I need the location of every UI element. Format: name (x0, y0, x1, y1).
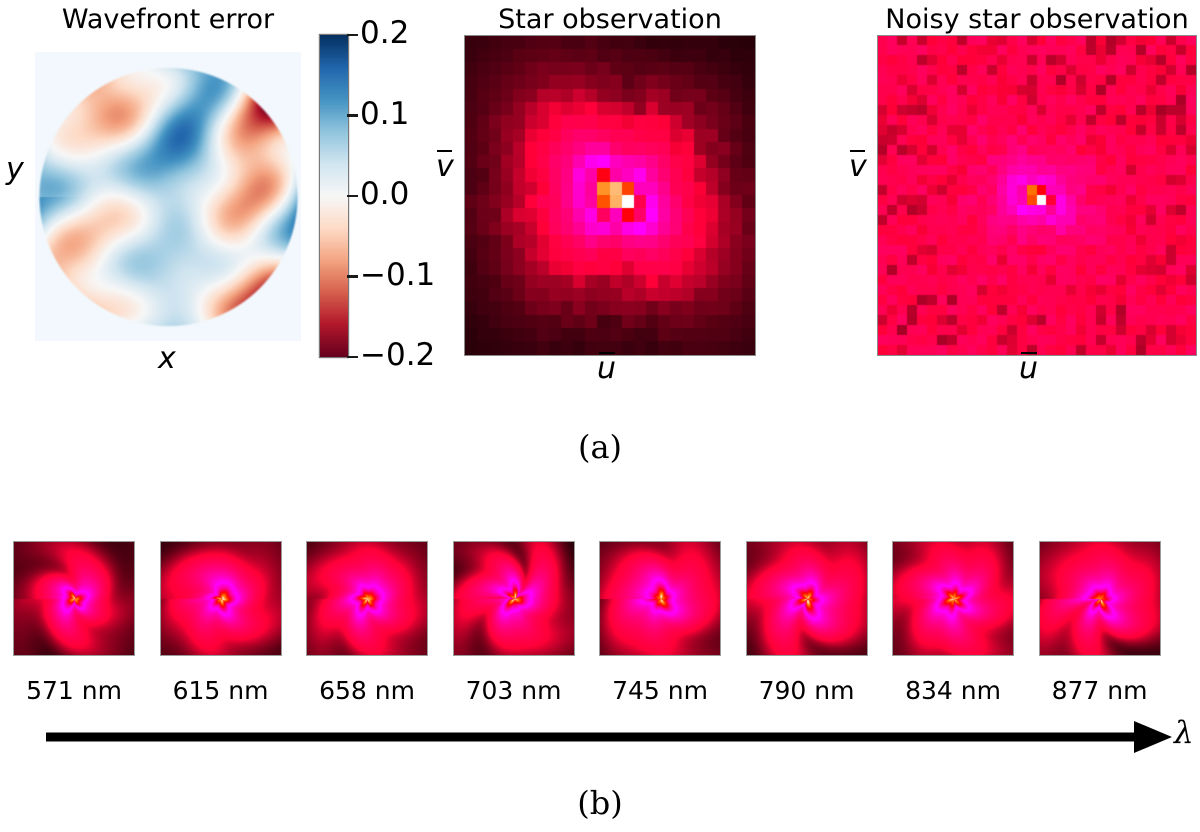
star-y-axis-label: v (436, 152, 454, 182)
psf-thumbnail-image (454, 542, 574, 655)
wavefront-y-axis-label: y (6, 155, 24, 185)
psf-thumbnail-image (161, 542, 281, 655)
wavefront-title: Wavefront error (35, 6, 301, 33)
colorbar-tick-3 (347, 275, 358, 278)
psf-thumbnail-658nm (307, 542, 427, 655)
wavelength-label-834nm: 834 nm (883, 678, 1023, 703)
colorbar-tick-label-4: −0.2 (360, 340, 435, 371)
wavefront-error-image (35, 52, 301, 341)
wavelength-label-877nm: 877 nm (1030, 678, 1170, 703)
psf-thumbnail-877nm (1040, 542, 1160, 655)
noisy-star-x-axis-label: u (1019, 354, 1038, 384)
psf-thumbnail-image (307, 542, 427, 655)
psf-thumbnail-image (600, 542, 720, 655)
colorbar-tick-label-3: −0.1 (360, 260, 435, 291)
psf-thumbnail-790nm (747, 542, 867, 655)
colorbar-tick-label-2: 0.0 (360, 179, 409, 210)
wavelength-label-790nm: 790 nm (737, 678, 877, 703)
lambda-axis-label: λ (1174, 718, 1194, 749)
noisy-star-y-axis-label: v (849, 152, 867, 182)
psf-thumbnail-834nm (893, 542, 1013, 655)
colorbar-tick-1 (347, 114, 358, 117)
figure-canvas: Wavefront error y x 0.20.10.0−0.1−0.2 St… (0, 0, 1200, 832)
wavelength-label-615nm: 615 nm (151, 678, 291, 703)
colorbar-tick-0 (347, 34, 358, 37)
star-x-axis-label: u (597, 354, 616, 384)
colorbar-tick-label-0: 0.2 (360, 18, 409, 49)
wavelength-label-571nm: 571 nm (4, 678, 144, 703)
psf-thumbnail-image (893, 542, 1013, 655)
subfigure-label-a: (a) (520, 428, 680, 466)
wavelength-label-703nm: 703 nm (444, 678, 584, 703)
psf-thumbnail-image (747, 542, 867, 655)
wavefront-x-axis-label: x (158, 344, 176, 374)
psf-thumbnail-745nm (600, 542, 720, 655)
wavelength-label-658nm: 658 nm (297, 678, 437, 703)
colorbar-tick-label-1: 0.1 (360, 99, 409, 130)
wavelength-axis-arrow (44, 717, 1174, 757)
noisy-star-observation-title: Noisy star observation (878, 6, 1196, 33)
wavelength-label-745nm: 745 nm (590, 678, 730, 703)
subfigure-label-b: (b) (520, 784, 680, 822)
wavefront-colorbar (320, 35, 348, 357)
star-observation-image (465, 36, 755, 355)
colorbar-tick-4 (347, 356, 358, 359)
psf-thumbnail-615nm (161, 542, 281, 655)
psf-thumbnail-image (14, 542, 134, 655)
psf-thumbnail-703nm (454, 542, 574, 655)
colorbar-tick-2 (347, 195, 358, 198)
star-observation-title: Star observation (465, 6, 755, 33)
psf-thumbnail-571nm (14, 542, 134, 655)
psf-thumbnail-image (1040, 542, 1160, 655)
noisy-star-observation-image (878, 36, 1196, 355)
